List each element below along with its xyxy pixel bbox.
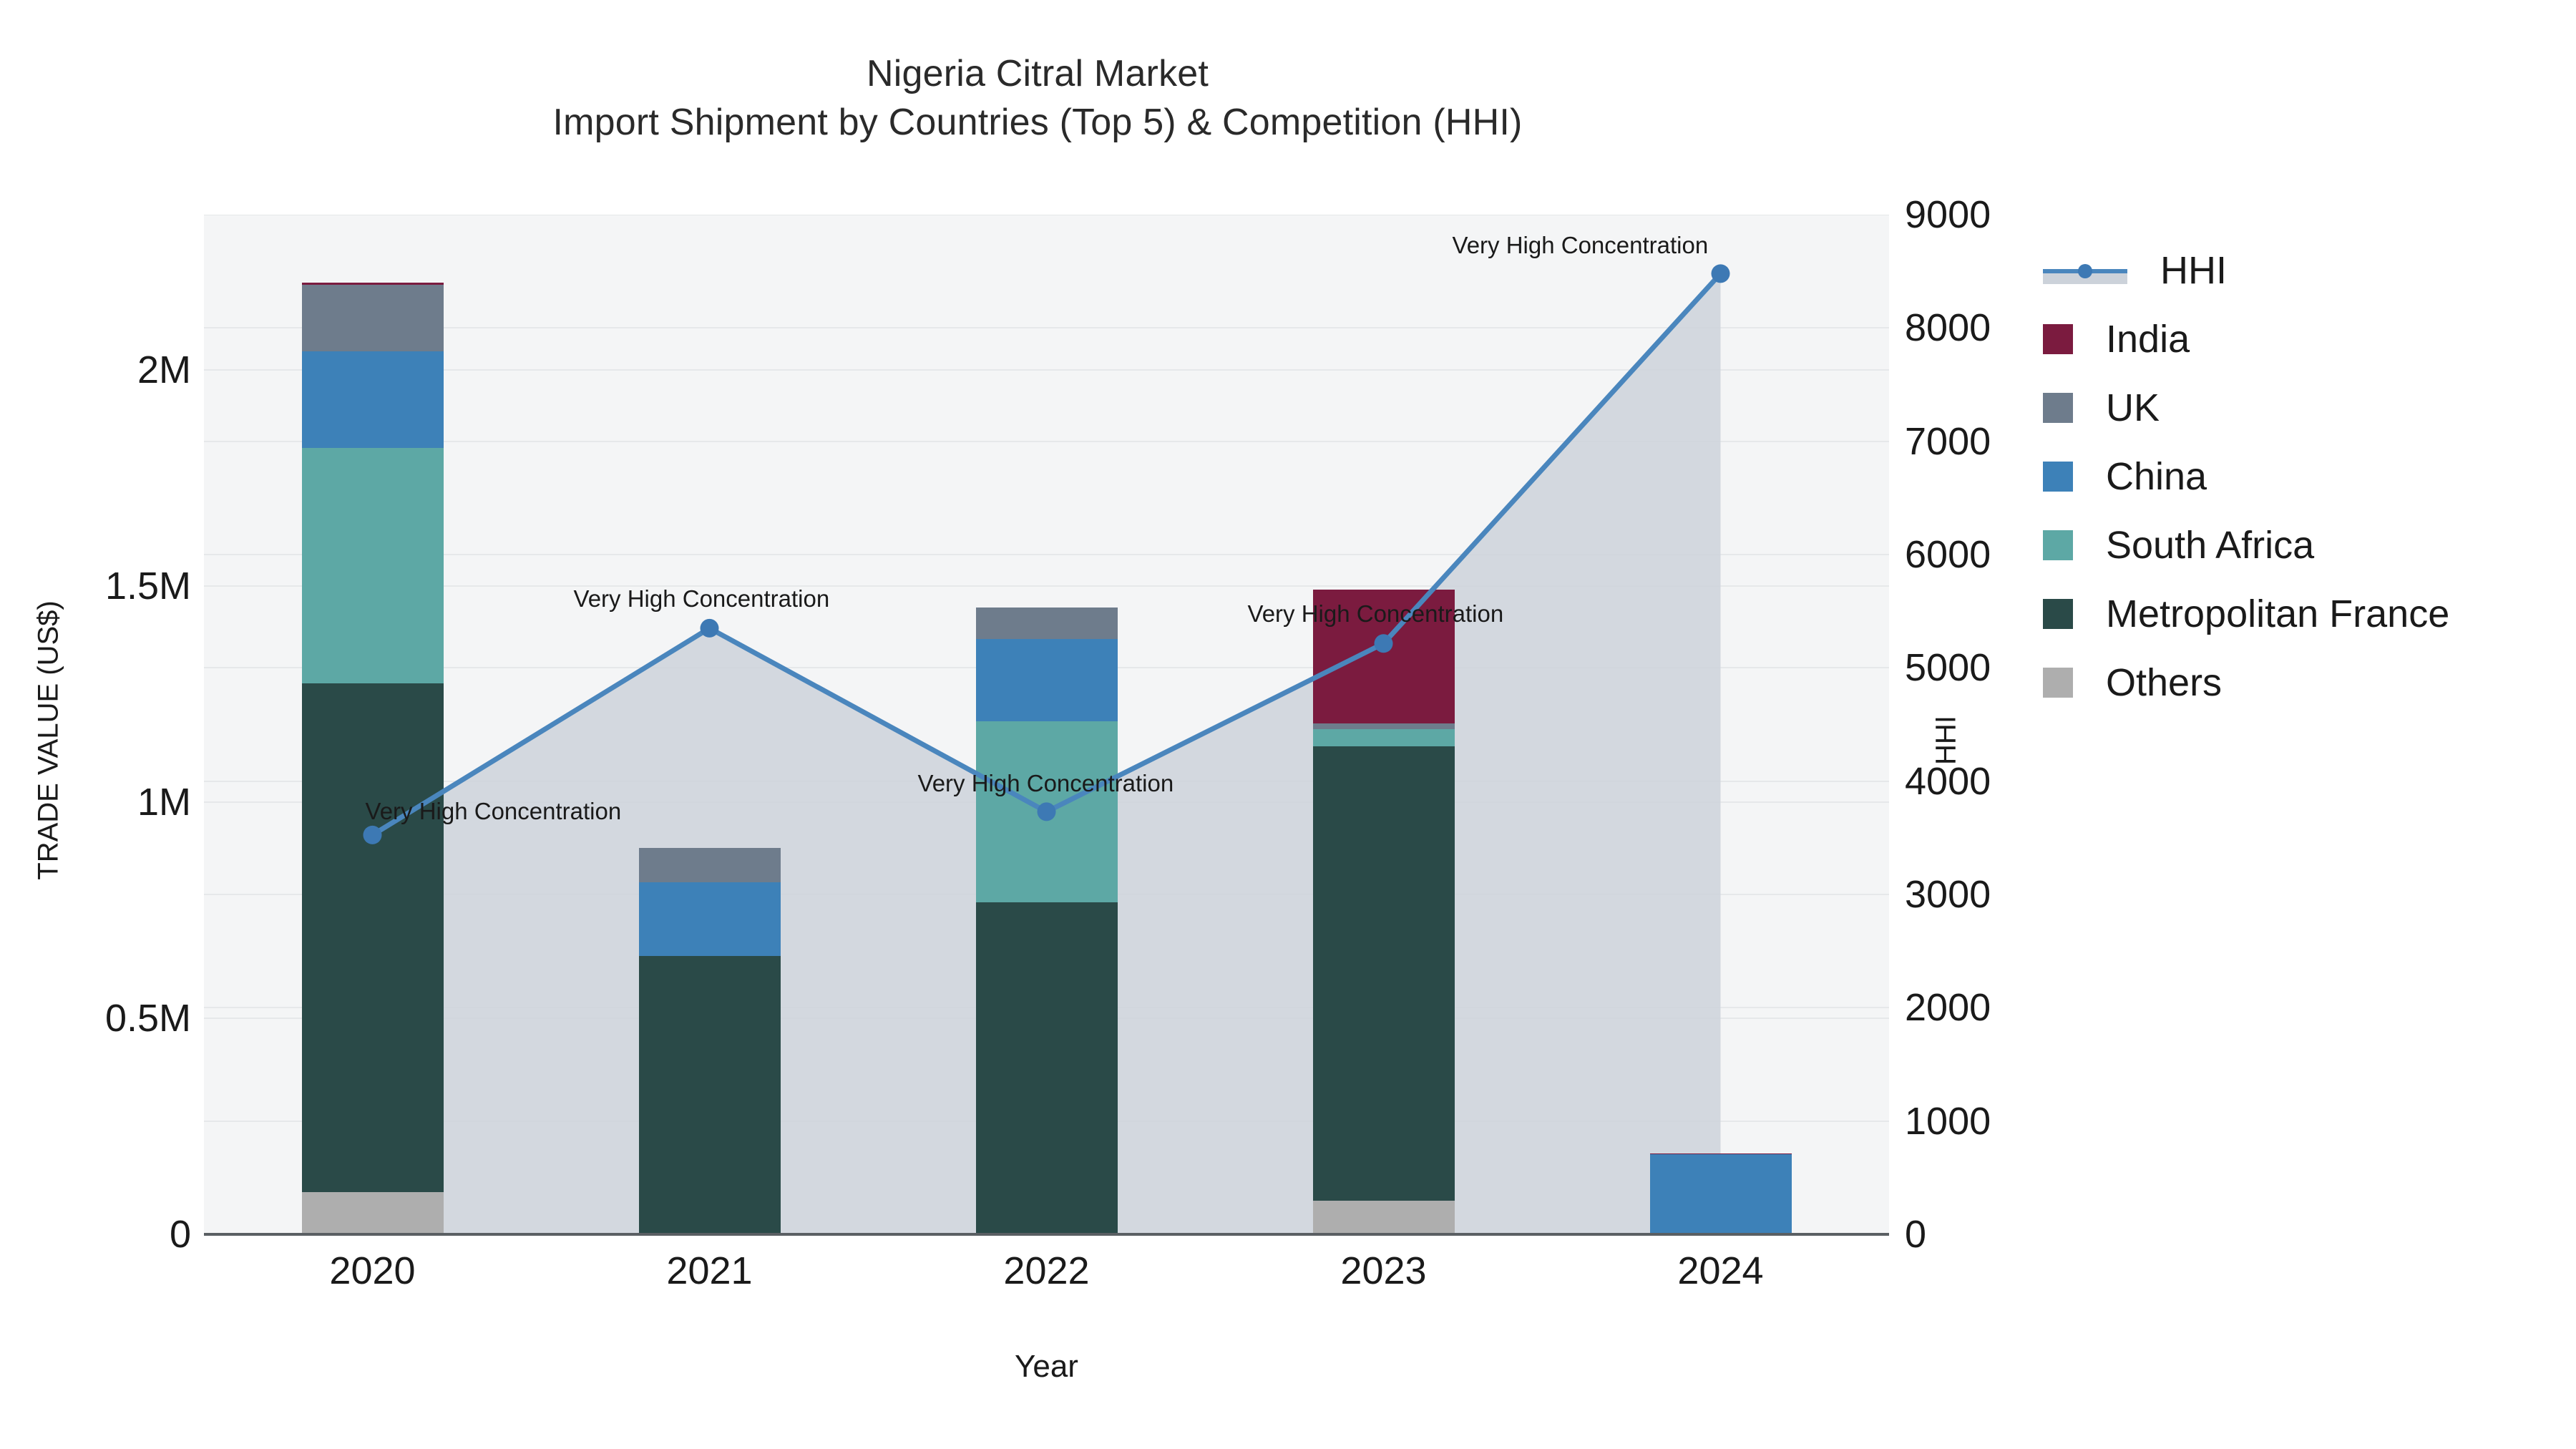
hhi-data-point-2024[interactable] [1712, 264, 1730, 283]
legend-item-hhi[interactable]: HHI [2043, 236, 2449, 305]
legend-label: Others [2106, 660, 2222, 705]
y-tick-right-6000: 6000 [1905, 532, 1991, 577]
legend: HHIIndiaUKChinaSouth AfricaMetropolitan … [2043, 236, 2449, 717]
legend-swatch-icon [2043, 599, 2073, 629]
y-tick-left-0.5M: 0.5M [0, 996, 191, 1040]
x-tick-2021: 2021 [666, 1249, 752, 1293]
hhi-line-path [373, 273, 1721, 835]
annotation-2023: Very High Concentration [1248, 600, 1504, 628]
legend-swatch-icon [2043, 393, 2073, 423]
legend-label: India [2106, 317, 2190, 361]
annotation-2024: Very High Concentration [1453, 232, 1709, 259]
x-axis-label: Year [204, 1349, 1889, 1385]
legend-item-south-africa[interactable]: South Africa [2043, 511, 2449, 580]
y-axis-right-label: HHI [1931, 633, 1963, 848]
chart-title-line-1: Nigeria Citral Market [0, 50, 2075, 99]
x-tick-2020: 2020 [329, 1249, 415, 1293]
y-tick-left-1.5M: 1.5M [0, 564, 191, 608]
y-tick-right-8000: 8000 [1905, 306, 1991, 350]
legend-item-others[interactable]: Others [2043, 648, 2449, 717]
hhi-data-point-2022[interactable] [1038, 802, 1056, 821]
legend-line-marker-icon [2043, 255, 2127, 286]
legend-swatch-icon [2043, 668, 2073, 698]
annotation-2020: Very High Concentration [366, 798, 622, 825]
hhi-line-series[interactable] [204, 215, 1889, 1234]
x-tick-2023: 2023 [1340, 1249, 1426, 1293]
plot-area [204, 215, 1889, 1234]
legend-item-metropolitan-france[interactable]: Metropolitan France [2043, 580, 2449, 648]
annotation-2022: Very High Concentration [918, 770, 1174, 797]
legend-line-dot-icon [2078, 264, 2092, 278]
legend-swatch-icon [2043, 324, 2073, 354]
y-tick-left-1M: 1M [0, 780, 191, 824]
y-tick-right-9000: 9000 [1905, 192, 1991, 237]
y-tick-right-1000: 1000 [1905, 1099, 1991, 1143]
legend-item-uk[interactable]: UK [2043, 374, 2449, 442]
y-tick-right-7000: 7000 [1905, 419, 1991, 464]
legend-label: China [2106, 454, 2207, 499]
chart-canvas: Nigeria Citral Market Import Shipment by… [0, 0, 2576, 1449]
legend-label: UK [2106, 386, 2160, 430]
y-axis-left-label: TRADE VALUE (US$) [33, 540, 65, 941]
legend-label: Metropolitan France [2106, 592, 2449, 636]
y-tick-right-2000: 2000 [1905, 985, 1991, 1030]
annotation-2021: Very High Concentration [574, 585, 830, 613]
hhi-data-point-2020[interactable] [364, 826, 382, 844]
y-tick-left-0: 0 [0, 1212, 191, 1257]
x-tick-2022: 2022 [1003, 1249, 1089, 1293]
x-tick-2024: 2024 [1677, 1249, 1763, 1293]
legend-item-china[interactable]: China [2043, 442, 2449, 511]
y-tick-right-3000: 3000 [1905, 872, 1991, 917]
chart-title-line-2: Import Shipment by Countries (Top 5) & C… [0, 99, 2075, 147]
y-tick-left-2M: 2M [0, 348, 191, 392]
chart-title-block: Nigeria Citral Market Import Shipment by… [0, 50, 2075, 147]
legend-item-india[interactable]: India [2043, 305, 2449, 374]
legend-swatch-icon [2043, 462, 2073, 492]
hhi-data-point-2023[interactable] [1375, 634, 1393, 653]
legend-label: HHI [2160, 248, 2227, 293]
x-axis-baseline [204, 1233, 1889, 1236]
plot-clip [204, 215, 1889, 1234]
y-tick-right-0: 0 [1905, 1212, 1926, 1257]
hhi-data-point-2021[interactable] [701, 619, 719, 638]
legend-label: South Africa [2106, 523, 2314, 567]
legend-swatch-icon [2043, 530, 2073, 560]
